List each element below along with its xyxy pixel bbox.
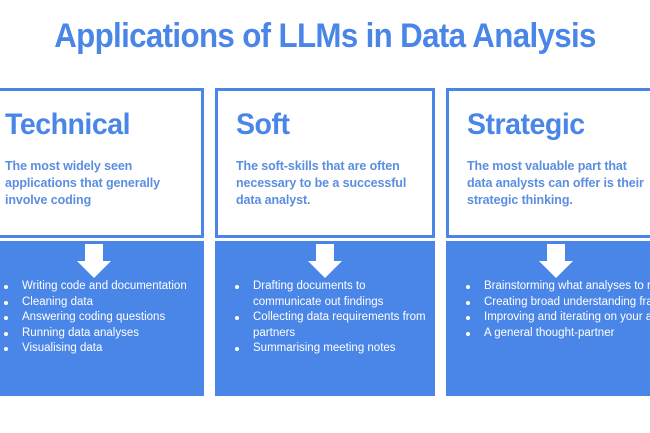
- list-item: Summarising meeting notes: [223, 341, 427, 357]
- list-item: Collecting data requirements from partne…: [223, 310, 427, 341]
- down-arrow-icon: [85, 244, 103, 262]
- column-technical: Technical The most widely seen applicati…: [0, 88, 204, 396]
- list-item: Running data analyses: [0, 326, 196, 342]
- panel-soft: Drafting documents to communicate out fi…: [215, 241, 435, 396]
- list-item: A general thought-partner: [454, 326, 650, 342]
- card-description-technical: The most widely seen applications that g…: [5, 158, 187, 209]
- card-description-soft: The soft-skills that are often necessary…: [236, 158, 418, 209]
- list-item: Writing code and documentation: [0, 279, 196, 295]
- columns-container: Technical The most widely seen applicati…: [0, 88, 650, 396]
- list-item: Drafting documents to communicate out fi…: [223, 279, 427, 310]
- card-technical: Technical The most widely seen applicati…: [0, 88, 204, 238]
- bullet-list-strategic: Brainstorming what analyses to run Creat…: [454, 279, 650, 341]
- card-title-soft: Soft: [236, 108, 409, 142]
- card-title-strategic: Strategic: [467, 108, 640, 142]
- panel-strategic: Brainstorming what analyses to run Creat…: [446, 241, 650, 396]
- column-strategic: Strategic The most valuable part that da…: [446, 88, 650, 396]
- panel-technical: Writing code and documentation Cleaning …: [0, 241, 204, 396]
- list-item: Brainstorming what analyses to run: [454, 279, 650, 295]
- down-arrow-icon: [547, 244, 565, 262]
- list-item: Improving and iterating on your analytic…: [454, 310, 650, 326]
- list-item: Cleaning data: [0, 295, 196, 311]
- down-arrow-icon: [316, 244, 334, 262]
- column-soft: Soft The soft-skills that are often nece…: [215, 88, 435, 396]
- bullet-list-soft: Drafting documents to communicate out fi…: [223, 279, 427, 357]
- card-soft: Soft The soft-skills that are often nece…: [215, 88, 435, 238]
- bullet-list-technical: Writing code and documentation Cleaning …: [0, 279, 196, 357]
- list-item: Creating broad understanding frameworks: [454, 295, 650, 311]
- list-item: Visualising data: [0, 341, 196, 357]
- card-description-strategic: The most valuable part that data analyst…: [467, 158, 649, 209]
- page-title: Applications of LLMs in Data Analysis: [26, 14, 624, 58]
- card-strategic: Strategic The most valuable part that da…: [446, 88, 650, 238]
- list-item: Answering coding questions: [0, 310, 196, 326]
- card-title-technical: Technical: [5, 108, 178, 142]
